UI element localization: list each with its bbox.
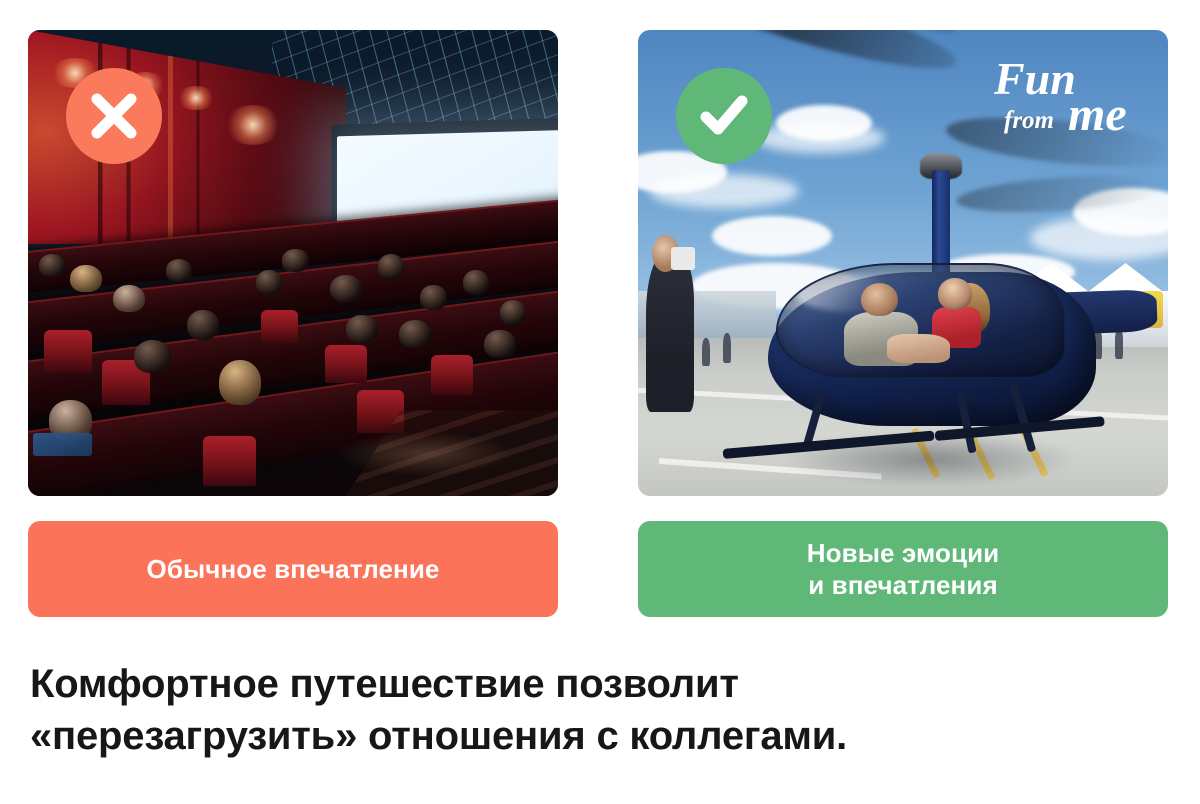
cloud — [649, 174, 799, 208]
cinema-lamp — [176, 86, 216, 110]
audience-head — [399, 320, 431, 348]
audience-head — [134, 340, 171, 373]
audience-head — [256, 270, 283, 295]
camera-icon — [671, 247, 695, 270]
background-person — [1115, 328, 1123, 358]
audience-head — [484, 330, 516, 358]
slide-root: Fun from me Обычное впечатление Новые эм… — [0, 0, 1200, 804]
audience-head — [500, 300, 527, 325]
headline-line-2: «перезагрузить» отношения с коллегами. — [30, 710, 1090, 762]
cta-text-negative: Обычное впечатление — [147, 553, 440, 585]
audience-head — [330, 275, 362, 303]
audience-head — [420, 285, 447, 310]
cinema-seat — [431, 355, 473, 395]
cloud — [1030, 216, 1168, 260]
passenger-legs — [887, 334, 950, 363]
audience-head — [219, 360, 261, 405]
cta-line: и впечатления — [807, 569, 999, 601]
check-icon — [694, 86, 754, 146]
audience-head — [39, 254, 66, 277]
cinema-lamp — [224, 105, 282, 145]
cinema-seat — [44, 330, 92, 373]
audience-head — [70, 265, 102, 293]
cta-text-positive: Новые эмоции и впечатления — [807, 537, 999, 601]
cinema-seat — [325, 345, 367, 383]
background-person — [702, 338, 710, 366]
cinema-seat — [261, 310, 298, 343]
rotor-blade-blur — [944, 108, 1168, 174]
cta-line: Обычное впечатление — [147, 553, 440, 585]
audience-head — [166, 259, 193, 282]
cta-line: Новые эмоции — [807, 537, 999, 569]
page-title: Комфортное путешествие позволит «перезаг… — [30, 658, 1090, 762]
cta-button-negative[interactable]: Обычное впечатление — [28, 521, 558, 617]
cloud — [712, 216, 832, 256]
comparison-card-positive: Fun from me — [638, 30, 1168, 496]
status-badge-negative — [66, 68, 162, 164]
cta-button-positive[interactable]: Новые эмоции и впечатления — [638, 521, 1168, 617]
passenger-pilot-head — [861, 283, 898, 317]
headline-line-1: Комфортное путешествие позволит — [30, 658, 1090, 710]
audience-head — [378, 254, 405, 279]
cinema-floor-light — [335, 431, 515, 476]
cloud — [755, 123, 885, 153]
cinema-seat-plaque — [33, 433, 91, 456]
audience-head — [346, 315, 378, 343]
status-badge-positive — [676, 68, 772, 164]
audience-head — [113, 285, 145, 313]
comparison-card-negative — [28, 30, 558, 496]
cinema-seat — [203, 436, 256, 486]
photographer-body — [646, 254, 694, 412]
audience-head — [282, 249, 309, 272]
helicopter-canopy — [776, 263, 1066, 379]
cross-icon — [85, 87, 143, 145]
background-person — [723, 333, 731, 363]
audience-head — [187, 310, 219, 340]
passenger-head — [938, 278, 972, 309]
audience-head — [463, 270, 490, 295]
cinema-audience — [28, 244, 558, 496]
